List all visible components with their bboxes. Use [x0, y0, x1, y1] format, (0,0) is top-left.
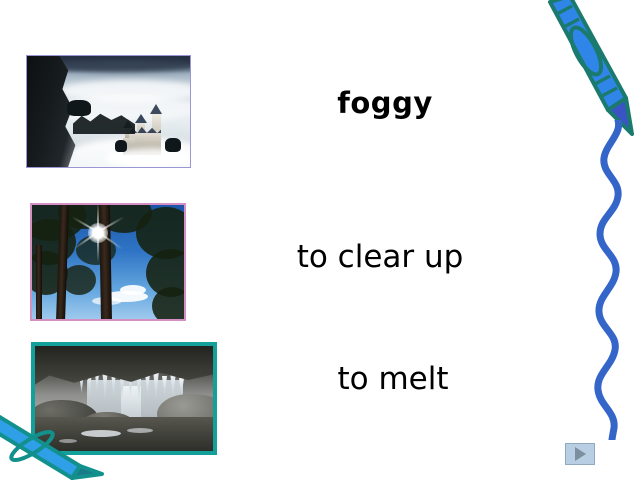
squiggle-path [598, 120, 619, 440]
word-foggy: foggy [250, 88, 520, 120]
tree-cluster-right [165, 138, 181, 152]
slide-canvas: foggy to clear up to melt [0, 0, 640, 480]
crayon-tip-bottom [72, 466, 102, 478]
cloud-band-dark-2 [47, 60, 190, 72]
tree-trunk-center [99, 205, 112, 319]
word-to-melt: to melt [258, 362, 528, 396]
sun-ray-6 [97, 205, 99, 232]
crayon-squiggle-line [576, 120, 640, 440]
foliage-right-bottom [152, 287, 184, 319]
next-slide-button[interactable] [565, 443, 595, 465]
sun-ray-1 [97, 232, 99, 262]
word-to-clear-up: to clear up [245, 240, 515, 274]
cliff-trees [67, 100, 91, 116]
blue-crayon-bottom-left [0, 414, 104, 480]
foliage-center-low [62, 265, 96, 295]
floor-reflection-2 [127, 428, 153, 433]
forest-scene [32, 205, 184, 319]
crayon-body-group-bottom [0, 416, 102, 478]
photo-sun-through-trees[interactable] [30, 203, 186, 321]
crayon-body-group [550, 0, 632, 134]
play-triangle-icon [575, 447, 586, 461]
crayon-barrel [550, 0, 626, 110]
cloud-2 [120, 285, 146, 295]
tree-cluster-left [115, 140, 127, 152]
tree-trunk-far-left [36, 245, 42, 319]
castle-scene [27, 56, 190, 167]
photo-castle-in-fog[interactable] [26, 55, 191, 168]
